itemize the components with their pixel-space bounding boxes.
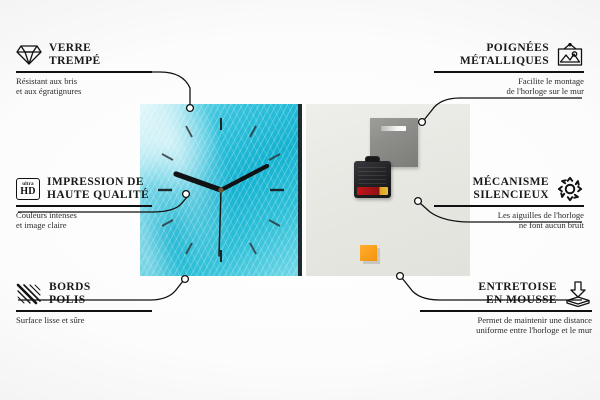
ultra-hd-icon: ultra HD xyxy=(16,178,40,200)
callout-subtitle: Surface lisse et sûre xyxy=(16,315,156,326)
callout-bords-polis: BORDS POLIS Surface lisse et sûre xyxy=(16,281,156,325)
callout-subtitle: Facilite le montage de l'horloge sur le … xyxy=(434,76,584,97)
callout-subtitle: Les aiguilles de l'horloge ne font aucun… xyxy=(434,210,584,231)
callout-header: VERRE TREMPÉ xyxy=(16,42,156,68)
callout-title: MÉCANISME SILENCIEUX xyxy=(473,176,549,202)
callout-title: ENTRETOISE EN MOUSSE xyxy=(478,281,557,307)
callout-header: POIGNÉES MÉTALLIQUES xyxy=(434,42,584,68)
callout-header: ultra HD IMPRESSION DE HAUTE QUALITÉ xyxy=(16,176,156,202)
callout-title: BORDS POLIS xyxy=(49,281,91,307)
hanging-frame-icon xyxy=(556,43,584,67)
gear-icon xyxy=(556,176,584,202)
callout-header: ENTRETOISE EN MOUSSE xyxy=(420,281,592,307)
clock-face xyxy=(140,104,302,276)
diamond-icon xyxy=(16,44,42,66)
callout-entretoise-en-mousse: ENTRETOISE EN MOUSSE Permet de maintenir… xyxy=(420,281,592,336)
callout-mecanisme-silencieux: MÉCANISME SILENCIEUX Les aiguilles de l'… xyxy=(434,176,584,231)
callout-subtitle: Couleurs intenses et image claire xyxy=(16,210,156,231)
callout-rule xyxy=(420,310,592,312)
polished-edges-icon xyxy=(16,283,42,305)
battery-part xyxy=(357,187,388,195)
callout-subtitle: Permet de maintenir une distance uniform… xyxy=(420,315,592,336)
callout-title: POIGNÉES MÉTALLIQUES xyxy=(460,42,549,68)
callout-verre-trempe: VERRE TREMPÉ Résistant aux bris et aux é… xyxy=(16,42,156,97)
product-image xyxy=(140,104,470,276)
callout-rule xyxy=(434,71,584,73)
callout-title: IMPRESSION DE HAUTE QUALITÉ xyxy=(47,176,149,202)
hanger-slot xyxy=(381,126,406,131)
mechanism-tab xyxy=(365,156,380,162)
callout-rule xyxy=(16,205,152,207)
mechanism-detail xyxy=(358,166,386,184)
callout-rule xyxy=(16,71,152,73)
callout-header: MÉCANISME SILENCIEUX xyxy=(434,176,584,202)
callout-subtitle: Résistant aux bris et aux égratignures xyxy=(16,76,156,97)
callout-title: VERRE TREMPÉ xyxy=(49,42,101,68)
callout-rule xyxy=(434,205,584,207)
callout-poignees-metalliques: POIGNÉES MÉTALLIQUES Facilite le montage… xyxy=(434,42,584,97)
clock-mechanism-part xyxy=(354,161,391,198)
callout-rule xyxy=(16,310,152,312)
clock-front-panel xyxy=(140,104,302,276)
infographic-stage: VERRE TREMPÉ Résistant aux bris et aux é… xyxy=(0,0,600,400)
callout-impression-haute-qualite: ultra HD IMPRESSION DE HAUTE QUALITÉ Cou… xyxy=(16,176,156,231)
arrow-down-pad-icon xyxy=(564,281,592,307)
foam-spacer-part xyxy=(360,245,377,261)
callout-header: BORDS POLIS xyxy=(16,281,156,307)
